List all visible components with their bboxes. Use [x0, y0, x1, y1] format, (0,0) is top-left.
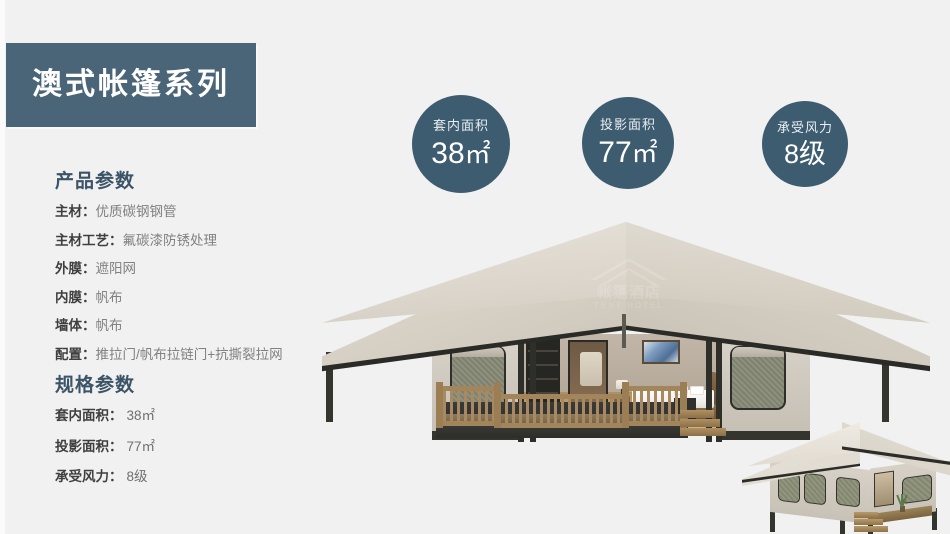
spec-value: 38㎡: [127, 408, 156, 423]
canopy-center-mast: [622, 314, 626, 348]
slide-canvas: 澳式帐篷系列 产品参数 主材：优质碳钢钢管 主材工艺：氟碳漆防锈处理 外膜：遮阳…: [0, 0, 950, 534]
tent-angle-view-illustration: [742, 416, 950, 534]
stat-label: 承受风力: [777, 121, 833, 134]
railing-post: [436, 382, 443, 428]
param-label: 内膜：: [55, 290, 96, 305]
stat-number: 8级: [784, 139, 826, 169]
spec-params-block: 规格参数 套内面积：38㎡ 投影面积：77㎡ 承受风力：8级: [55, 370, 365, 501]
stat-value: 77㎡: [598, 138, 657, 168]
stat-circle-wind-resistance: 承受风力 8级: [762, 101, 848, 187]
deck-railing: [626, 386, 686, 426]
param-row: 墙体：帆布: [55, 319, 365, 333]
param-label: 主材工艺：: [55, 233, 123, 248]
param-row: 配置：推拉门/帆布拉链门+抗撕裂拉网: [55, 348, 365, 362]
mini-tent-steps: [854, 512, 888, 534]
railing-post: [494, 382, 501, 428]
spec-label: 投影面积：: [55, 439, 123, 454]
product-params-block: 产品参数 主材：优质碳钢钢管 主材工艺：氟碳漆防锈处理 外膜：遮阳网 内膜：帆布…: [55, 166, 365, 376]
param-row: 主材：优质碳钢钢管: [55, 205, 365, 219]
spec-label: 套内面积：: [55, 408, 123, 423]
title-banner: 澳式帐篷系列: [6, 43, 256, 127]
page-title: 澳式帐篷系列: [32, 70, 230, 100]
stat-circle-interior-area: 套内面积 38㎡: [412, 95, 510, 193]
param-value: 帆布: [96, 290, 123, 305]
tent-canopy-roof: 帐篷酒店 TENT HOTEL: [322, 222, 930, 372]
spec-value: 77㎡: [127, 439, 156, 454]
spec-value: 8级: [127, 469, 148, 484]
spec-row: 承受风力：8级: [55, 470, 365, 484]
param-value: 优质碳钢钢管: [96, 204, 177, 219]
stat-label: 投影面积: [600, 118, 656, 131]
spec-row: 套内面积：38㎡: [55, 409, 365, 423]
stat-label: 套内面积: [433, 119, 489, 132]
mini-mesh-window: [804, 473, 826, 506]
param-value: 推拉门/帆布拉链门+抗撕裂拉网: [96, 347, 283, 362]
param-label: 主材：: [55, 204, 96, 219]
param-row: 内膜：帆布: [55, 291, 365, 305]
param-value: 遮阳网: [96, 261, 137, 276]
param-row: 主材工艺：氟碳漆防锈处理: [55, 234, 365, 248]
stat-value: 8级: [784, 141, 826, 168]
spec-params-heading: 规格参数: [55, 370, 365, 397]
deck-railing: [436, 386, 496, 426]
param-value: 氟碳漆防锈处理: [123, 233, 218, 248]
left-edge-strip: [0, 0, 5, 534]
param-value: 帆布: [96, 318, 123, 333]
spec-row: 投影面积：77㎡: [55, 440, 365, 454]
stat-number: 38: [431, 137, 464, 170]
stat-unit: ㎡: [465, 139, 491, 169]
spec-label: 承受风力：: [55, 469, 123, 484]
stat-circle-projected-area: 投影面积 77㎡: [582, 97, 674, 189]
deck-railing: [498, 394, 624, 428]
product-params-heading: 产品参数: [55, 166, 365, 193]
stat-value: 38㎡: [431, 139, 490, 169]
stat-unit: ㎡: [632, 138, 658, 168]
mini-tent-door: [874, 471, 894, 508]
front-deck: [436, 380, 694, 430]
stat-number: 77: [598, 136, 631, 169]
param-label: 外膜：: [55, 261, 96, 276]
param-label: 墙体：: [55, 318, 96, 333]
param-row: 外膜：遮阳网: [55, 262, 365, 276]
mini-mesh-window: [836, 477, 860, 508]
railing-post: [622, 382, 629, 428]
deck-stairs: [680, 410, 726, 444]
param-label: 配置：: [55, 347, 96, 362]
potted-plant: [894, 494, 910, 512]
